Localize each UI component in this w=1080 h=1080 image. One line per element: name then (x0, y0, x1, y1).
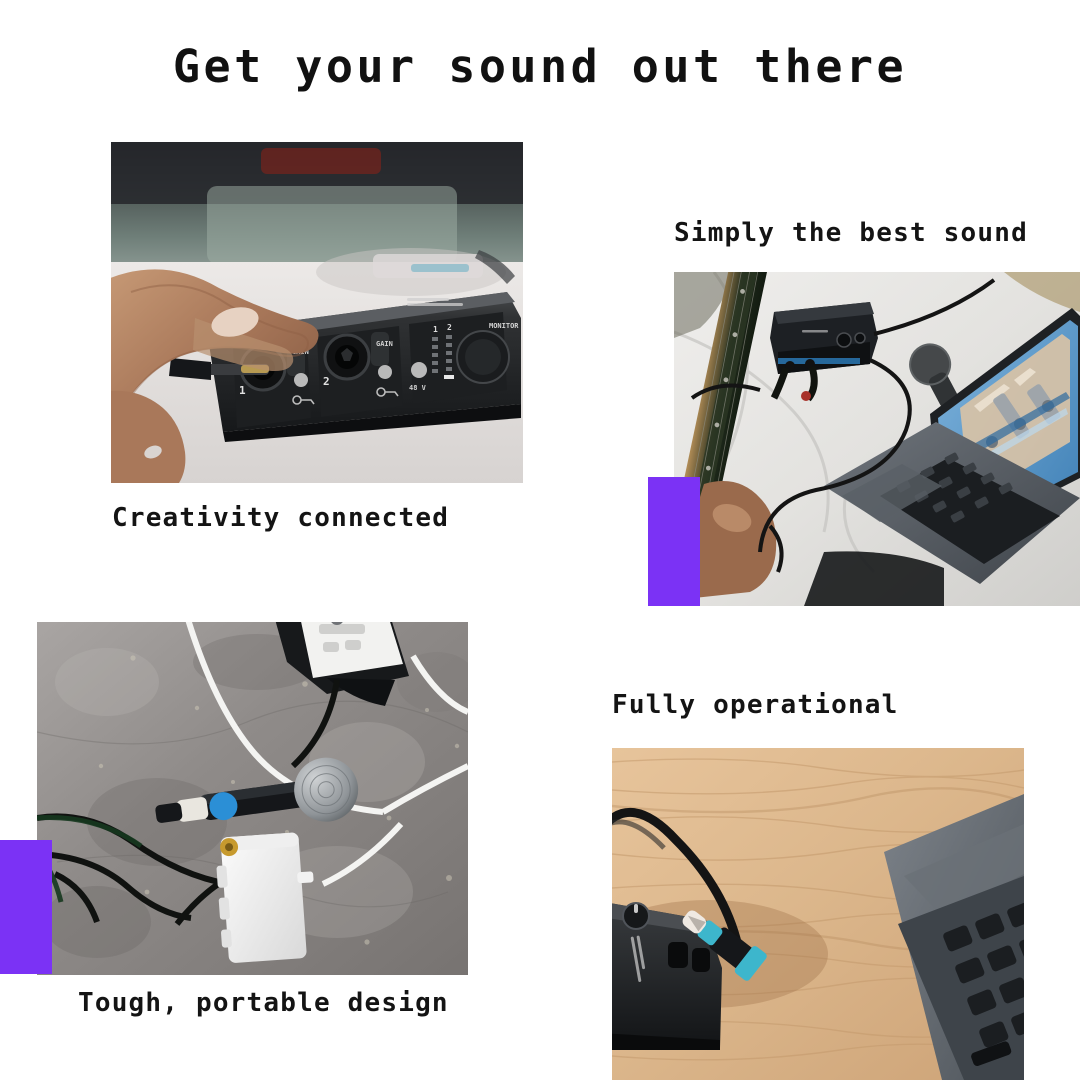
svg-text:2: 2 (323, 375, 330, 388)
svg-text:MONITOR: MONITOR (489, 322, 519, 330)
svg-text:1: 1 (239, 384, 246, 397)
page-title: Get your sound out there (0, 42, 1080, 92)
svg-text:1: 1 (433, 325, 438, 334)
desk-cable-illustration (612, 748, 1024, 1080)
promo-collage-page: Get your sound out there (0, 0, 1080, 1080)
accent-block-left (0, 840, 52, 974)
photo-best-sound[interactable] (674, 272, 1080, 606)
caption-creativity-connected: Creativity connected (112, 503, 449, 533)
floor-mic-illustration (37, 622, 468, 975)
svg-text:48 V: 48 V (409, 384, 427, 392)
caption-best-sound: Simply the best sound (674, 218, 1028, 248)
svg-text:2: 2 (447, 323, 452, 332)
caption-tough-portable: Tough, portable design (78, 988, 449, 1018)
photo-tough-portable[interactable] (37, 622, 468, 975)
photo-creativity-connected[interactable]: GAIN 1 GAIN 2 48 V 1 (111, 142, 523, 483)
bed-setup-illustration (674, 272, 1080, 606)
interface-hand-illustration: GAIN 1 GAIN 2 48 V 1 (111, 142, 523, 483)
accent-block-right (648, 477, 700, 606)
svg-text:GAIN: GAIN (376, 340, 393, 348)
photo-fully-operational[interactable] (612, 748, 1024, 1080)
caption-fully-operational: Fully operational (612, 690, 899, 720)
